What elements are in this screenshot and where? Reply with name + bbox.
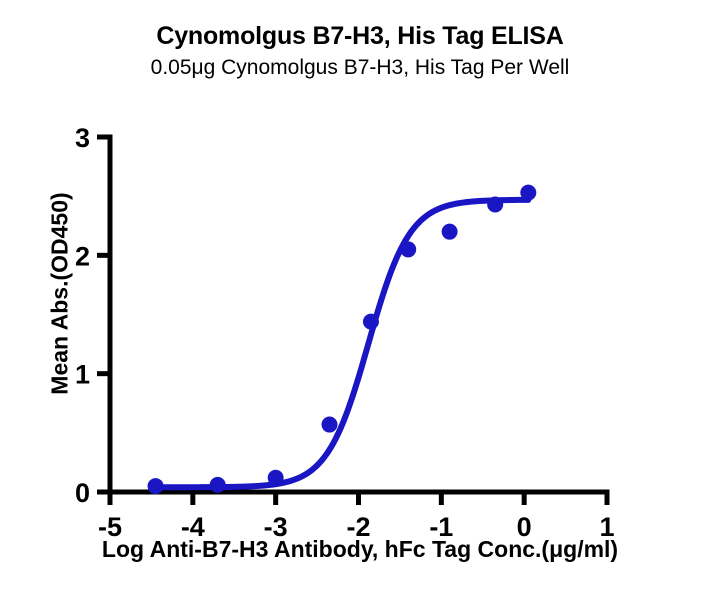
data-point-marker	[210, 477, 226, 493]
data-point-marker	[148, 478, 164, 494]
y-tick-label: 3	[75, 123, 90, 153]
plot-area: -5-4-3-2-1010123	[0, 0, 720, 609]
sigmoid-fit-curve	[156, 200, 529, 487]
data-point-marker	[487, 196, 503, 212]
data-points-group	[148, 185, 537, 494]
y-tick-label: 1	[75, 360, 90, 390]
data-point-marker	[400, 241, 416, 257]
data-point-marker	[520, 185, 536, 201]
y-tick-label: 0	[75, 478, 90, 508]
data-point-marker	[268, 470, 284, 486]
x-tick-label: -5	[98, 512, 122, 542]
fit-curve-group	[156, 200, 529, 487]
data-point-marker	[442, 224, 458, 240]
x-tick-label: -3	[264, 512, 288, 542]
data-point-marker	[322, 417, 338, 433]
elisa-chart-figure: Cynomolgus B7-H3, His Tag ELISA 0.05μg C…	[0, 0, 720, 609]
x-tick-label: -1	[429, 512, 453, 542]
x-tick-label: -4	[181, 512, 205, 542]
x-tick-label: 0	[517, 512, 532, 542]
x-tick-label: 1	[599, 512, 614, 542]
y-tick-label: 2	[75, 241, 90, 271]
data-point-marker	[363, 314, 379, 330]
x-tick-label: -2	[346, 512, 370, 542]
